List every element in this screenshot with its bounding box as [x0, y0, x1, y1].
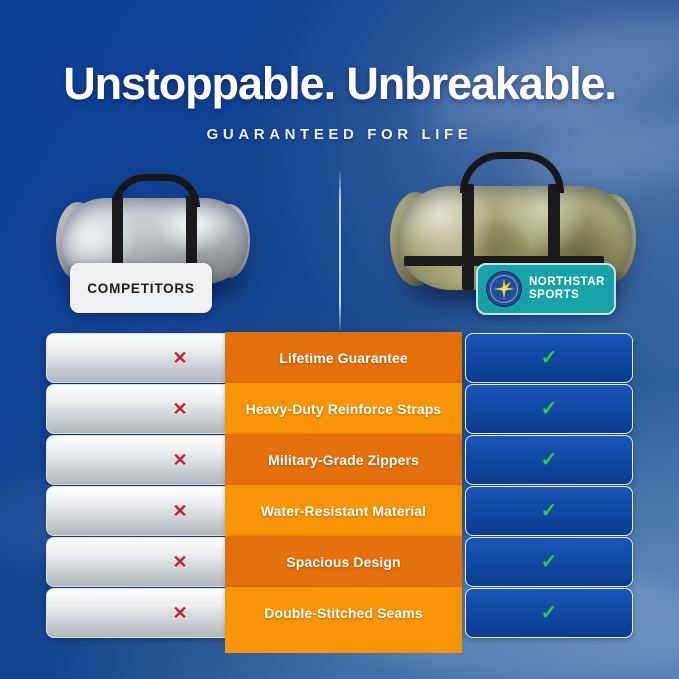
- brand-badge: NORTHSTAR SPORTS: [476, 263, 616, 315]
- competitors-label: COMPETITORS: [70, 263, 212, 313]
- table-row: ✕ Lifetime Guarantee ✓: [0, 333, 679, 383]
- bag-handle: [112, 174, 200, 207]
- brand-cell: ✓: [465, 333, 633, 383]
- brand-cell: ✓: [465, 537, 633, 587]
- feature-cell: Heavy-Duty Reinforce Straps: [225, 383, 462, 435]
- check-icon: ✓: [541, 399, 558, 419]
- logo-ring: [490, 275, 518, 303]
- feature-label: Lifetime Guarantee: [279, 350, 408, 366]
- compass-star-icon: [486, 271, 522, 307]
- comparison-table: ✕ Lifetime Guarantee ✓ ✕ Heavy-Duty Rein…: [0, 333, 679, 639]
- feature-cell: Water-Resistant Material: [225, 485, 462, 537]
- cross-icon: ✕: [172, 451, 187, 469]
- brand-name-line-1: NORTHSTAR: [529, 276, 605, 289]
- check-icon: ✓: [541, 501, 558, 521]
- cross-icon: ✕: [172, 553, 187, 571]
- feature-cell: Spacious Design: [225, 536, 462, 588]
- cross-icon: ✕: [172, 604, 187, 622]
- table-row: ✕ Double-Stitched Seams ✓: [0, 588, 679, 638]
- bag-strap: [462, 184, 474, 290]
- feature-cell: Double-Stitched Seams: [225, 587, 462, 639]
- table-row: ✕ Water-Resistant Material ✓: [0, 486, 679, 536]
- bag-handle: [460, 152, 564, 193]
- cross-icon: ✕: [172, 502, 187, 520]
- brand-cell: ✓: [465, 435, 633, 485]
- cross-icon: ✕: [172, 400, 187, 418]
- feature-cell: Lifetime Guarantee: [225, 332, 462, 384]
- check-icon: ✓: [541, 348, 558, 368]
- headline: Unstoppable. Unbreakable.: [0, 58, 679, 110]
- feature-label: Double-Stitched Seams: [264, 605, 422, 621]
- table-row: ✕ Military-Grade Zippers ✓: [0, 435, 679, 485]
- brand-cell: ✓: [465, 384, 633, 434]
- vertical-divider: [339, 172, 341, 330]
- check-icon: ✓: [541, 552, 558, 572]
- feature-label: Spacious Design: [286, 554, 400, 570]
- feature-label: Heavy-Duty Reinforce Straps: [246, 401, 442, 417]
- subheadline: GUARANTEED FOR LIFE: [0, 126, 679, 143]
- feature-column-tail: [225, 639, 462, 653]
- brand-name-line-2: SPORTS: [529, 289, 605, 302]
- table-row: ✕ Heavy-Duty Reinforce Straps ✓: [0, 384, 679, 434]
- cross-icon: ✕: [172, 349, 187, 367]
- check-icon: ✓: [541, 450, 558, 470]
- table-row: ✕ Spacious Design ✓: [0, 537, 679, 587]
- infographic-canvas: Unstoppable. Unbreakable. GUARANTEED FOR…: [0, 0, 679, 679]
- feature-label: Water-Resistant Material: [261, 503, 426, 519]
- competitors-label-text: COMPETITORS: [87, 281, 195, 296]
- feature-cell: Military-Grade Zippers: [225, 434, 462, 486]
- brand-cell: ✓: [465, 486, 633, 536]
- check-icon: ✓: [541, 603, 558, 623]
- brand-cell: ✓: [465, 588, 633, 638]
- brand-name: NORTHSTAR SPORTS: [529, 276, 605, 302]
- feature-label: Military-Grade Zippers: [268, 452, 419, 468]
